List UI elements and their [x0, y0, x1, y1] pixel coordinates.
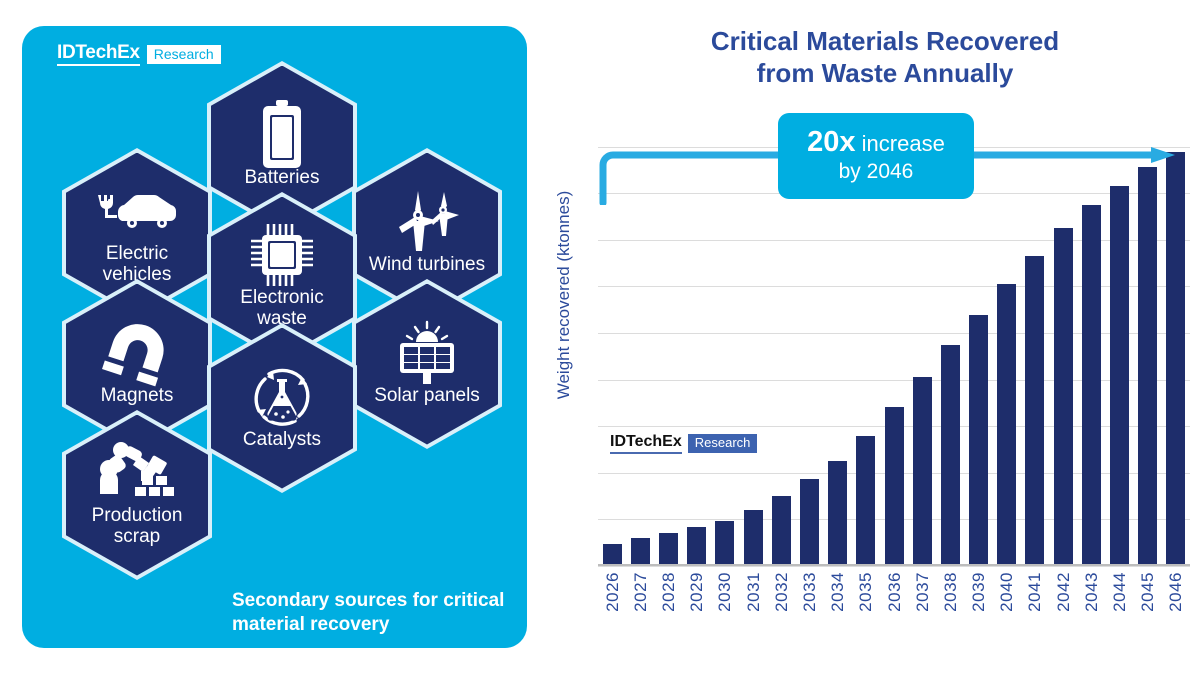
x-tick-label: 2040	[997, 572, 1016, 612]
bar	[631, 538, 650, 564]
bar	[603, 544, 622, 564]
watermark-research-badge: Research	[688, 434, 758, 453]
bar	[1082, 205, 1101, 564]
callout-rest: increase	[856, 131, 945, 156]
bar	[1138, 167, 1157, 564]
robot-arm-icon	[95, 442, 179, 504]
bar	[659, 533, 678, 564]
x-axis-line	[598, 564, 1190, 566]
x-tick-label: 2041	[1025, 572, 1044, 612]
hex-label: Batteries	[245, 168, 320, 189]
hex-label: Wind turbines	[369, 255, 485, 276]
chart-panel: Critical Materials Recovered from Waste …	[540, 0, 1200, 675]
bar	[885, 407, 904, 565]
hex-label: Catalysts	[243, 430, 321, 451]
gridline	[598, 240, 1190, 241]
x-tick-label: 2027	[631, 572, 650, 612]
x-tick-label: 2032	[772, 572, 791, 612]
watermark-name: IDTechEx	[610, 434, 682, 454]
magnet-icon	[101, 322, 173, 384]
y-axis-label: Weight recovered (ktonnes)	[554, 85, 574, 505]
gridline	[598, 333, 1190, 334]
callout-line-1: 20x increase	[807, 127, 945, 159]
x-tick-label: 2026	[603, 572, 622, 612]
hex-catalysts[interactable]: Catalysts	[207, 323, 357, 493]
wind-turbine-icon	[389, 191, 465, 253]
bar	[828, 461, 847, 564]
x-tick-label: 2045	[1138, 572, 1157, 612]
microchip-icon	[247, 224, 317, 286]
x-tick-label: 2028	[659, 572, 678, 612]
infographic-tagline: Secondary sources for critical material …	[232, 589, 512, 638]
logo-name: IDTechEx	[57, 43, 140, 66]
bar	[856, 436, 875, 564]
x-tick-label: 2033	[800, 572, 819, 612]
solar-panel-icon	[392, 322, 462, 384]
battery-icon	[258, 104, 306, 166]
bar	[800, 479, 819, 564]
x-tick-label: 2034	[828, 572, 847, 612]
bar	[969, 315, 988, 564]
bar	[997, 284, 1016, 564]
hex-label: Production scrap	[75, 506, 199, 547]
flask-recycle-icon	[245, 366, 319, 428]
chart-title: Critical Materials Recovered from Waste …	[635, 26, 1135, 89]
hex-label: Magnets	[101, 386, 174, 407]
infographic-panel: IDTechEx Research Electric vehicles	[22, 26, 527, 648]
callout-emphasis: 20x	[807, 126, 855, 158]
bar	[1054, 228, 1073, 564]
x-tick-label: 2044	[1110, 572, 1129, 612]
x-tick-label: 2030	[715, 572, 734, 612]
bar	[1166, 152, 1185, 564]
chart-title-line2: from Waste Annually	[635, 58, 1135, 90]
idtechex-logo: IDTechEx Research	[57, 43, 221, 66]
logo-research-badge: Research	[147, 45, 221, 64]
chart-title-line1: Critical Materials Recovered	[635, 26, 1135, 58]
x-tick-label: 2042	[1054, 572, 1073, 612]
x-axis-tick-labels: 2026202720282029203020312032203320342035…	[598, 572, 1190, 670]
x-tick-label: 2037	[913, 572, 932, 612]
x-tick-label: 2038	[941, 572, 960, 612]
bar	[687, 527, 706, 564]
chart-watermark: IDTechEx Research	[610, 434, 757, 454]
bar	[1025, 256, 1044, 564]
x-tick-label: 2029	[687, 572, 706, 612]
x-tick-label: 2031	[744, 572, 763, 612]
callout-line-2: by 2046	[839, 159, 914, 185]
gridline	[598, 380, 1190, 381]
bar	[715, 521, 734, 564]
bar	[913, 377, 932, 564]
hex-solar-panels[interactable]: Solar panels	[352, 279, 502, 449]
x-tick-label: 2043	[1082, 572, 1101, 612]
hex-production-scrap[interactable]: Production scrap	[62, 410, 212, 580]
x-tick-label: 2035	[856, 572, 875, 612]
bar	[1110, 186, 1129, 564]
x-tick-label: 2046	[1166, 572, 1185, 612]
hex-label: Solar panels	[374, 386, 480, 407]
callout-badge: 20x increase by 2046	[778, 113, 974, 199]
bar	[744, 510, 763, 564]
x-tick-label: 2039	[969, 572, 988, 612]
gridline	[598, 566, 1190, 567]
electric-vehicle-icon	[94, 180, 180, 242]
x-tick-label: 2036	[885, 572, 904, 612]
bar	[941, 345, 960, 564]
bar	[772, 496, 791, 564]
gridline	[598, 286, 1190, 287]
